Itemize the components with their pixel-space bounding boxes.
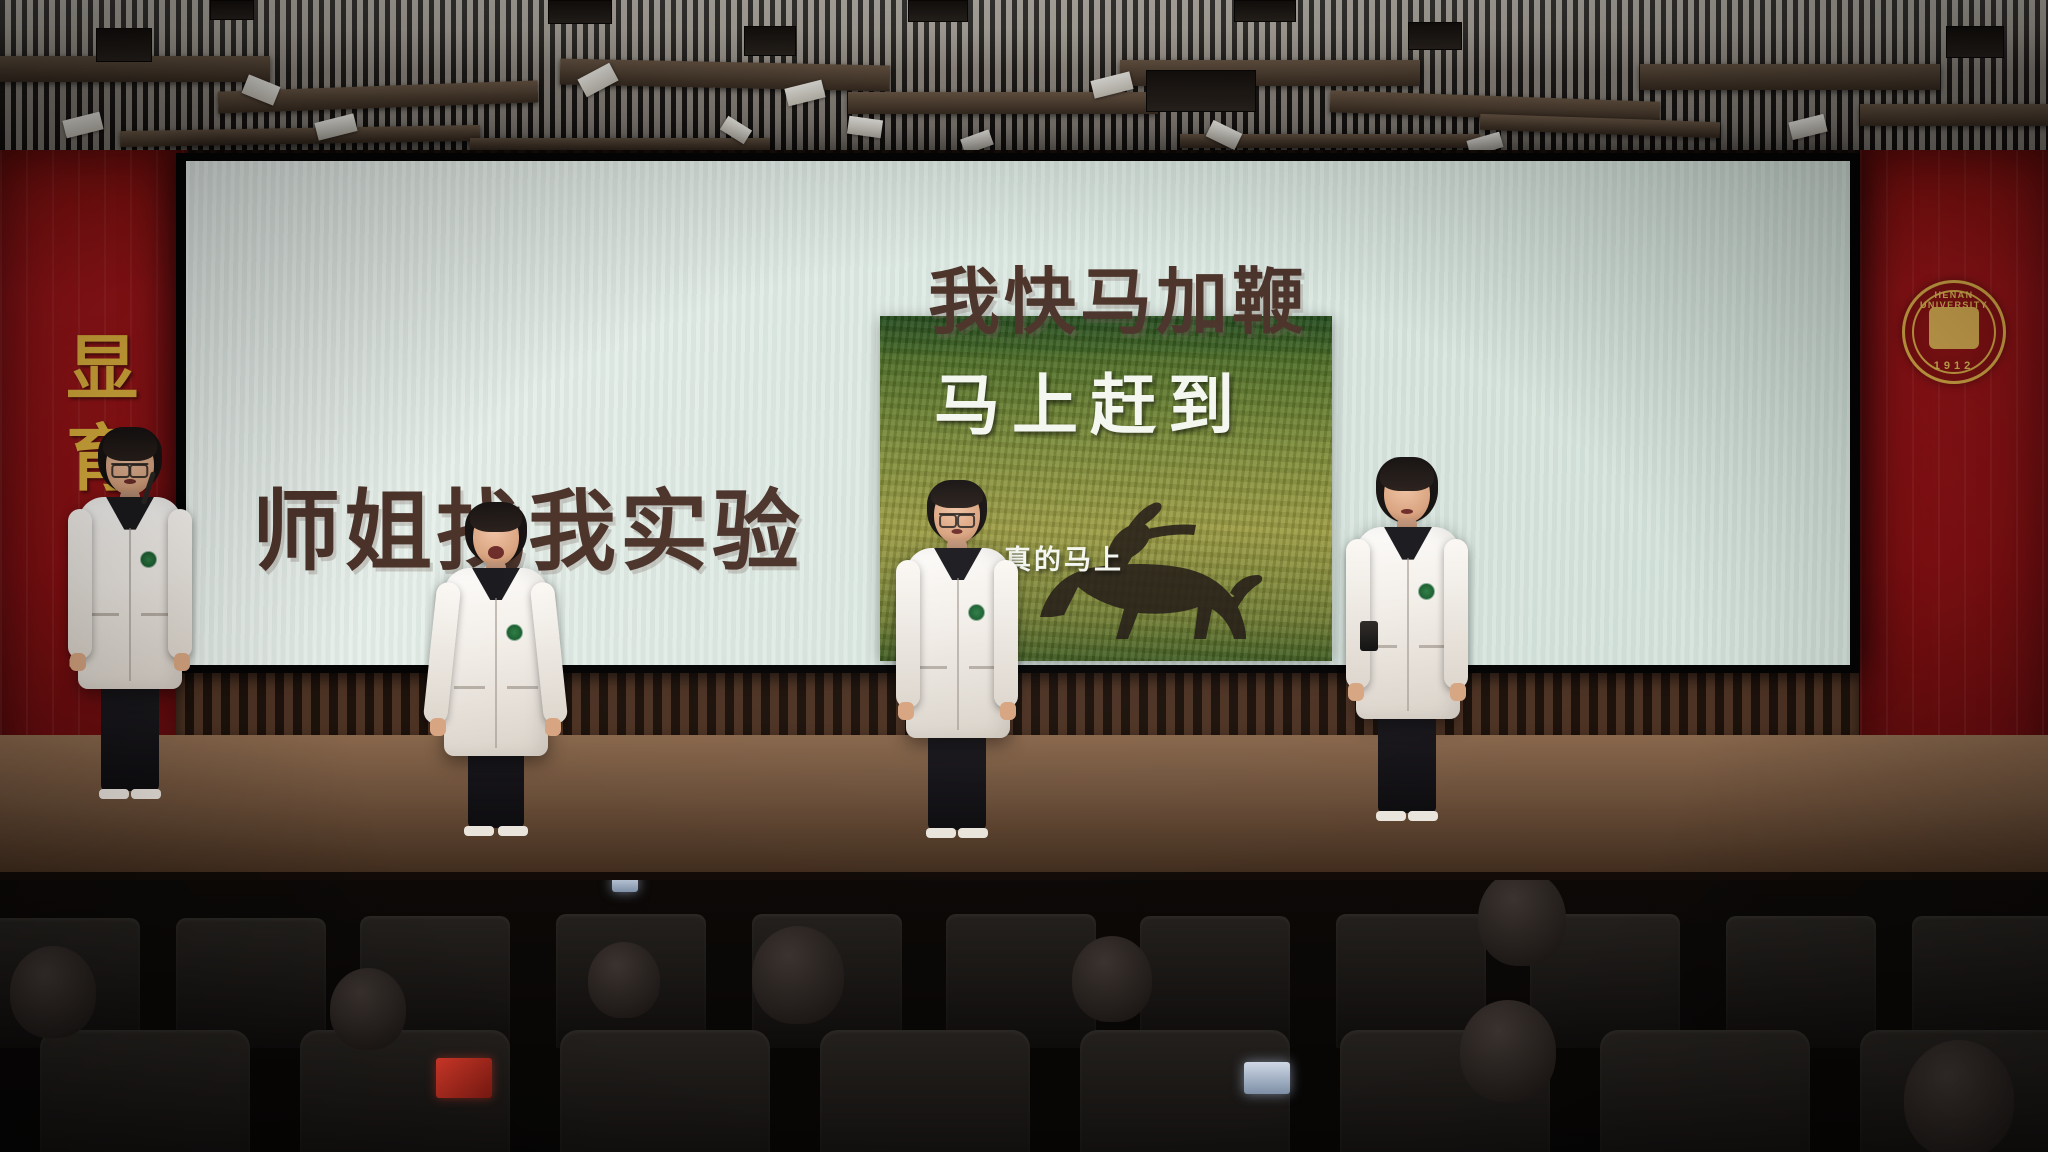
- audience-head-2: [330, 968, 406, 1050]
- seat-row2-4: [820, 1030, 1030, 1152]
- performer-1: [60, 425, 200, 785]
- performer-4-hand-left: [1348, 683, 1364, 701]
- performer-4-badge: [1418, 583, 1435, 600]
- slide-right-title: 我快马加鞭: [928, 243, 1308, 348]
- seat-10: [1726, 916, 1876, 1048]
- performer-2: [428, 500, 563, 825]
- performer-1-hand-left: [70, 653, 86, 671]
- seat-11: [1912, 916, 2048, 1048]
- audience-head-4: [752, 926, 844, 1024]
- audience-head-5: [1072, 936, 1152, 1022]
- performer-2-pocket: [454, 686, 485, 689]
- ceiling-truss-area: [0, 0, 2048, 160]
- performer-1-mouth: [124, 479, 136, 484]
- performer-3-hand-right: [1000, 702, 1016, 720]
- photo-headline: 马上赶到: [934, 352, 1246, 448]
- seat-2: [176, 918, 326, 1048]
- truss-beam-4: [848, 92, 1158, 114]
- performer-4: [1342, 455, 1472, 805]
- floor-sheen: [0, 735, 2048, 880]
- seat-8: [1336, 914, 1486, 1048]
- banner-right-sheen: [1860, 150, 2048, 810]
- performer-1-shoe-left: [99, 789, 129, 799]
- performer-4-hair: [1380, 459, 1434, 491]
- performer-4-legs: [1378, 705, 1436, 813]
- performer-2-mouth-open: [488, 546, 504, 559]
- performer-3: [892, 478, 1022, 818]
- performer-2-hand-right: [545, 718, 561, 736]
- performer-1-arm-left: [68, 509, 92, 659]
- performer-4-shoe-right: [1408, 811, 1438, 821]
- performer-2-pocket-2: [507, 686, 538, 689]
- performer-3-glasses: [939, 513, 975, 522]
- performer-1-glasses: [111, 463, 148, 472]
- performer-3-mouth: [952, 529, 963, 534]
- stage-light-9: [1946, 26, 2004, 58]
- performer-1-legs: [101, 673, 159, 791]
- seal-center-glyph: [1929, 307, 1979, 349]
- performer-3-hand-left: [898, 702, 914, 720]
- performer-2-badge: [506, 624, 523, 641]
- stage-light-4: [744, 26, 796, 56]
- seat-row2-3: [560, 1030, 770, 1152]
- performer-1-hair: [103, 429, 157, 461]
- performer-3-coat-seam: [957, 578, 959, 730]
- performer-3-shoe-left: [926, 828, 956, 838]
- stage-light-8: [1408, 22, 1462, 50]
- performer-3-badge: [968, 604, 985, 621]
- performer-3-pocket: [916, 666, 947, 669]
- performer-4-handheld-device: [1360, 621, 1378, 651]
- performer-3-legs: [928, 724, 986, 830]
- truss-beam-7: [1640, 64, 1940, 90]
- banner-right: HENAN UNIVERSITY 1912: [1860, 150, 2048, 810]
- performer-1-hand-right: [174, 653, 190, 671]
- stage-floor: [0, 735, 2048, 880]
- performer-2-coat-seam: [495, 598, 497, 748]
- audience-phone-screen-2: [612, 880, 638, 892]
- audience-head-7: [1478, 880, 1566, 966]
- performer-3-collar: [934, 548, 982, 580]
- seal-year-text: 1912: [1905, 360, 2003, 372]
- performer-4-hand-right: [1450, 683, 1466, 701]
- performer-3-arm-right: [994, 560, 1018, 708]
- stage-light-2: [210, 0, 254, 20]
- performer-1-pocket: [88, 613, 119, 616]
- audience-head-1: [10, 946, 96, 1038]
- performer-4-mouth: [1401, 509, 1413, 514]
- performer-4-shoe-left: [1376, 811, 1406, 821]
- performer-1-lab-coat: [78, 497, 182, 689]
- audience-head-6: [1460, 1000, 1556, 1102]
- performer-1-coat-seam: [129, 528, 131, 682]
- performer-3-shoe-right: [958, 828, 988, 838]
- performer-1-arm-right: [168, 509, 192, 659]
- audience-head-8: [1904, 1040, 2014, 1152]
- seat-row2-1: [40, 1030, 250, 1152]
- performer-4-coat-seam: [1407, 558, 1409, 712]
- performer-4-arm-left: [1346, 539, 1370, 689]
- stage-scene: 显育训业 HENAN UNIVERSITY 1912 师姐找我实验 我快马加鞭: [0, 0, 2048, 1152]
- performer-4-collar: [1384, 527, 1432, 560]
- performer-1-badge: [140, 551, 157, 568]
- seat-7: [1140, 916, 1290, 1048]
- truss-beam-8: [1860, 104, 2048, 126]
- performer-2-collar: [472, 568, 520, 600]
- stage-light-7: [1234, 0, 1296, 22]
- performer-1-shoe-right: [131, 789, 161, 799]
- audience-head-3: [588, 942, 660, 1018]
- performer-4-arm-right: [1444, 539, 1468, 689]
- photo-subline: 真的马上: [1004, 538, 1124, 577]
- seat-row2-7: [1600, 1030, 1810, 1152]
- audience-area: [0, 880, 2048, 1152]
- performer-2-shoe-right: [498, 826, 528, 836]
- stage-light-1: [96, 28, 152, 62]
- stage-light-3: [548, 0, 612, 24]
- performer-3-arm-left: [896, 560, 920, 708]
- performer-2-hand-left: [430, 718, 446, 736]
- audience-phone-screen-1: [1244, 1062, 1290, 1094]
- performer-2-shoe-left: [464, 826, 494, 836]
- stage-light-5: [908, 0, 968, 22]
- stage-light-6: [1146, 70, 1256, 112]
- performer-3-hair: [931, 480, 983, 508]
- henan-university-seal-icon: HENAN UNIVERSITY 1912: [1902, 280, 2006, 384]
- audience-phone-red: [436, 1058, 492, 1098]
- performer-2-hair: [470, 502, 522, 532]
- performer-1-collar: [106, 497, 154, 530]
